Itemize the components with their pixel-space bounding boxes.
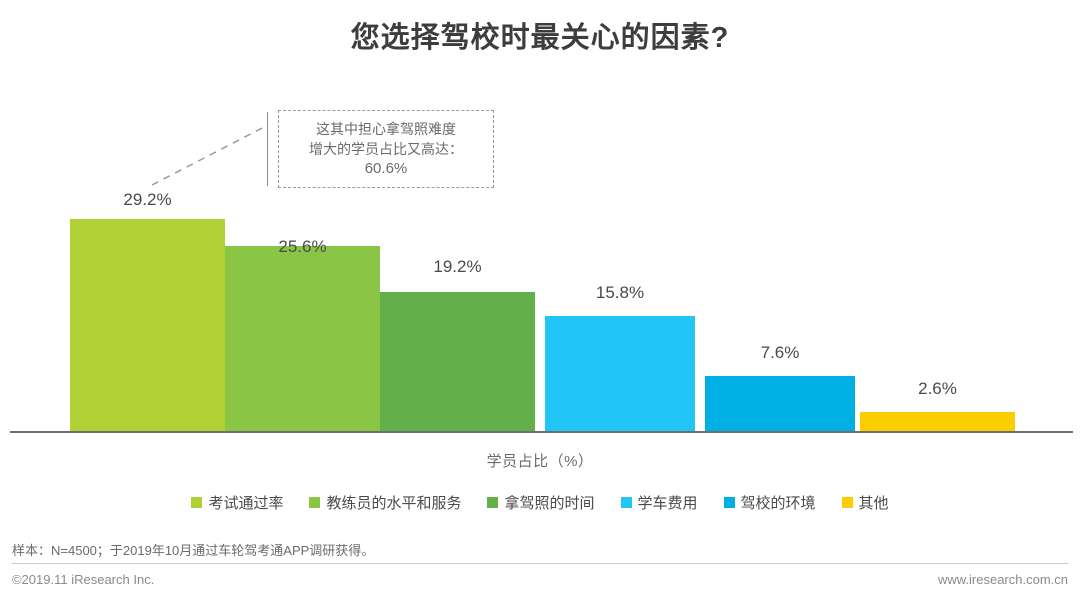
bar-3 [380,292,535,431]
legend-item-3[interactable]: 拿驾照的时间 [487,492,594,513]
legend-item-1[interactable]: 考试通过率 [191,492,283,513]
callout-line-2: 增大的学员占比又高达： [309,139,463,159]
legend-label: 驾校的环境 [741,492,816,513]
legend-swatch-icon [724,497,735,508]
x-axis-line [10,431,1073,433]
legend-item-4[interactable]: 学车费用 [621,492,698,513]
bar-5 [705,376,855,431]
bar-value-label-1: 29.2% [70,190,225,210]
callout-line-1: 这其中担心拿驾照难度 [316,119,456,139]
x-axis-title: 学员占比（%） [0,450,1080,471]
copyright-text: ©2019.11 iResearch Inc. [12,572,154,587]
callout-value: 60.6% [365,159,408,179]
bar-value-label-6: 2.6% [860,379,1015,399]
website-url: www.iresearch.com.cn [938,572,1068,587]
legend-swatch-icon [621,497,632,508]
sample-note: 样本：N=4500；于2019年10月通过车轮驾考通APP调研获得。 [12,540,374,559]
legend-item-5[interactable]: 驾校的环境 [724,492,816,513]
bar-4 [545,316,695,431]
chart-page: 您选择驾校时最关心的因素? 29.2%25.6%19.2%15.8%7.6%2.… [0,0,1080,600]
legend-swatch-icon [487,497,498,508]
legend-swatch-icon [842,497,853,508]
legend-label: 拿驾照的时间 [504,492,594,513]
footer-divider [12,563,1068,564]
legend-label: 其他 [859,492,889,513]
bar-value-label-4: 15.8% [545,283,695,303]
bar-2 [225,246,380,431]
bar-value-label-3: 19.2% [380,257,535,277]
legend-label: 教练员的水平和服务 [326,492,461,513]
bar-value-label-5: 7.6% [705,343,855,363]
bar-1 [70,219,225,431]
legend-item-6[interactable]: 其他 [842,492,889,513]
callout-stem [267,112,268,186]
legend-swatch-icon [309,497,320,508]
legend-item-2[interactable]: 教练员的水平和服务 [309,492,461,513]
bar-6 [860,412,1015,431]
chart-legend: 考试通过率教练员的水平和服务拿驾照的时间学车费用驾校的环境其他 [0,492,1080,513]
legend-label: 学车费用 [638,492,698,513]
bar-value-label-2: 25.6% [225,237,380,257]
legend-label: 考试通过率 [208,492,283,513]
legend-swatch-icon [191,497,202,508]
callout-annotation-box: 这其中担心拿驾照难度 增大的学员占比又高达： 60.6% [278,110,494,188]
